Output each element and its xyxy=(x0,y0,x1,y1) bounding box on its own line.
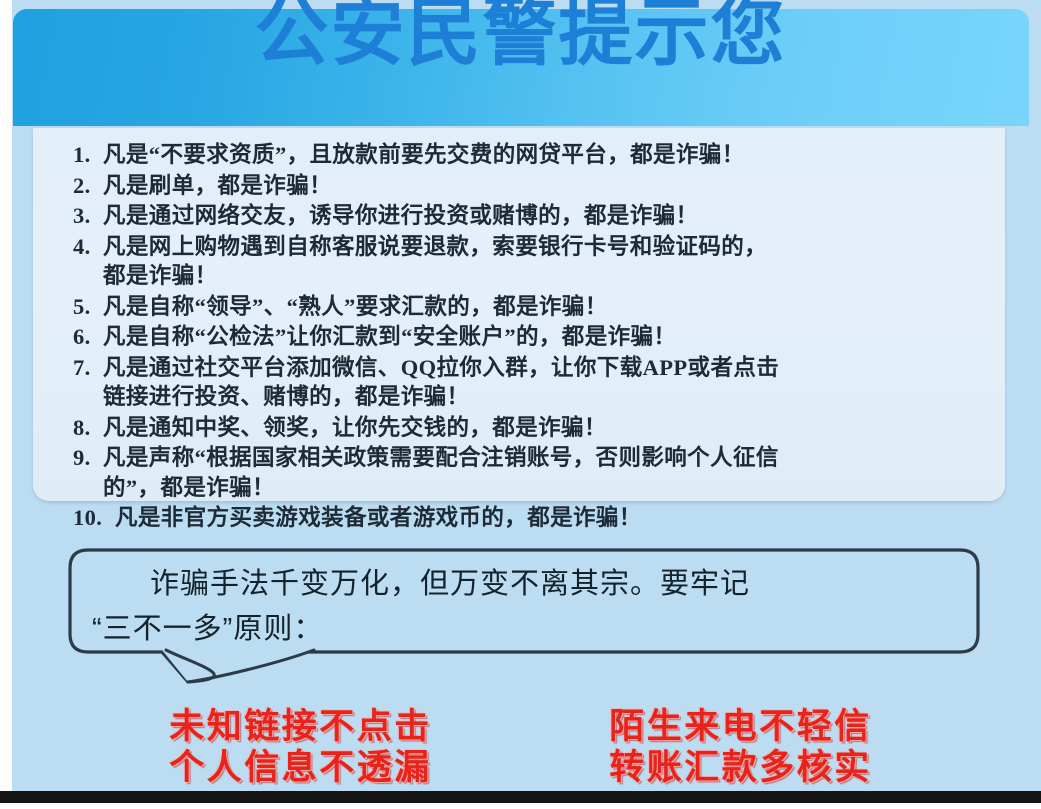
bubble-line-2: “三不一多”原则： xyxy=(92,607,952,652)
slogan-row-1: 未知链接不点击 陌生来电不轻信 xyxy=(0,706,1041,747)
page-title: 公安民警提示您 xyxy=(0,0,1041,75)
bottom-white-strip xyxy=(0,803,1041,809)
rule-item: 5. 凡是自称“领导”、“熟人”要求汇款的，都是诈骗！ xyxy=(73,292,973,322)
slogan-stranger-call: 陌生来电不轻信 xyxy=(576,706,906,747)
rule-number: 6. xyxy=(73,322,103,352)
slogan-row-2: 个人信息不透漏 转账汇款多核实 xyxy=(0,747,1041,788)
rule-text: 凡是自称“公检法”让你汇款到“安全账户”的，都是诈骗！ xyxy=(103,324,676,349)
rule-text: 凡是“不要求资质”，且放款前要先交费的网贷平台，都是诈骗！ xyxy=(103,142,745,167)
rule-text-continued: 链接进行投资、赌博的，都是诈骗！ xyxy=(103,382,973,412)
rule-item: 7. 凡是通过社交平台添加微信、QQ拉你入群，让你下载APP或者点击 链接进行投… xyxy=(73,353,973,412)
slogan-unknown-link: 未知链接不点击 xyxy=(136,706,466,747)
rule-text: 凡是声称“根据国家相关政策需要配合注销账号，否则影响个人征信 xyxy=(103,445,779,470)
slogan-transfer-verify: 转账汇款多核实 xyxy=(576,747,906,788)
rule-item: 3. 凡是通过网络交友，诱导你进行投资或赌博的，都是诈骗！ xyxy=(73,201,973,231)
left-white-margin xyxy=(0,0,12,793)
rule-text: 凡是网上购物遇到自称客服说要退款，索要银行卡号和验证码的， xyxy=(103,234,767,259)
rule-item: 8. 凡是通知中奖、领奖，让你先交钱的，都是诈骗！ xyxy=(73,413,973,443)
rule-item: 6. 凡是自称“公检法”让你汇款到“安全账户”的，都是诈骗！ xyxy=(73,322,973,352)
rules-list: 1. 凡是“不要求资质”，且放款前要先交费的网贷平台，都是诈骗！ 2. 凡是刷单… xyxy=(73,140,973,534)
rule-item: 4. 凡是网上购物遇到自称客服说要退款，索要银行卡号和验证码的， 都是诈骗！ xyxy=(73,232,973,291)
rule-number: 10. xyxy=(73,503,115,533)
speech-bubble: 诈骗手法千变万化，但万变不离其宗。要牢记 “三不一多”原则： xyxy=(66,546,982,694)
anti-fraud-poster: 公安民警提示您 1. 凡是“不要求资质”，且放款前要先交费的网贷平台，都是诈骗！… xyxy=(0,0,1041,809)
rule-number: 5. xyxy=(73,292,103,322)
rules-card: 1. 凡是“不要求资质”，且放款前要先交费的网贷平台，都是诈骗！ 2. 凡是刷单… xyxy=(33,128,1005,501)
bubble-line-1: 诈骗手法千变万化，但万变不离其宗。要牢记 xyxy=(92,562,952,607)
rule-item: 2. 凡是刷单，都是诈骗！ xyxy=(73,171,973,201)
rule-number: 1. xyxy=(73,140,103,170)
rule-text: 凡是通知中奖、领奖，让你先交钱的，都是诈骗！ xyxy=(103,415,607,440)
rule-item: 9. 凡是声称“根据国家相关政策需要配合注销账号，否则影响个人征信 的”，都是诈… xyxy=(73,443,973,502)
rule-text: 凡是自称“领导”、“熟人”要求汇款的，都是诈骗！ xyxy=(103,294,608,319)
rule-number: 4. xyxy=(73,232,103,262)
rule-number: 8. xyxy=(73,413,103,443)
rule-number: 2. xyxy=(73,171,103,201)
rule-number: 3. xyxy=(73,201,103,231)
rule-text: 凡是刷单，都是诈骗！ xyxy=(103,173,332,198)
rule-text-continued: 的”，都是诈骗！ xyxy=(103,473,973,503)
rule-text: 凡是通过网络交友，诱导你进行投资或赌博的，都是诈骗！ xyxy=(103,203,698,228)
rule-text: 凡是通过社交平台添加微信、QQ拉你入群，让你下载APP或者点击 xyxy=(103,355,779,380)
rule-item: 10. 凡是非官方买卖游戏装备或者游戏币的，都是诈骗！ xyxy=(73,503,973,533)
slogan-block: 未知链接不点击 陌生来电不轻信 个人信息不透漏 转账汇款多核实 xyxy=(0,706,1041,788)
rule-text-continued: 都是诈骗！ xyxy=(103,261,973,291)
bubble-text-block: 诈骗手法千变万化，但万变不离其宗。要牢记 “三不一多”原则： xyxy=(92,562,952,652)
rule-number: 7. xyxy=(73,353,103,383)
rule-item: 1. 凡是“不要求资质”，且放款前要先交费的网贷平台，都是诈骗！ xyxy=(73,140,973,170)
bottom-black-bar xyxy=(0,791,1041,803)
rule-text: 凡是非官方买卖游戏装备或者游戏币的，都是诈骗！ xyxy=(115,505,642,530)
slogan-personal-info: 个人信息不透漏 xyxy=(136,747,466,788)
rule-number: 9. xyxy=(73,443,103,473)
